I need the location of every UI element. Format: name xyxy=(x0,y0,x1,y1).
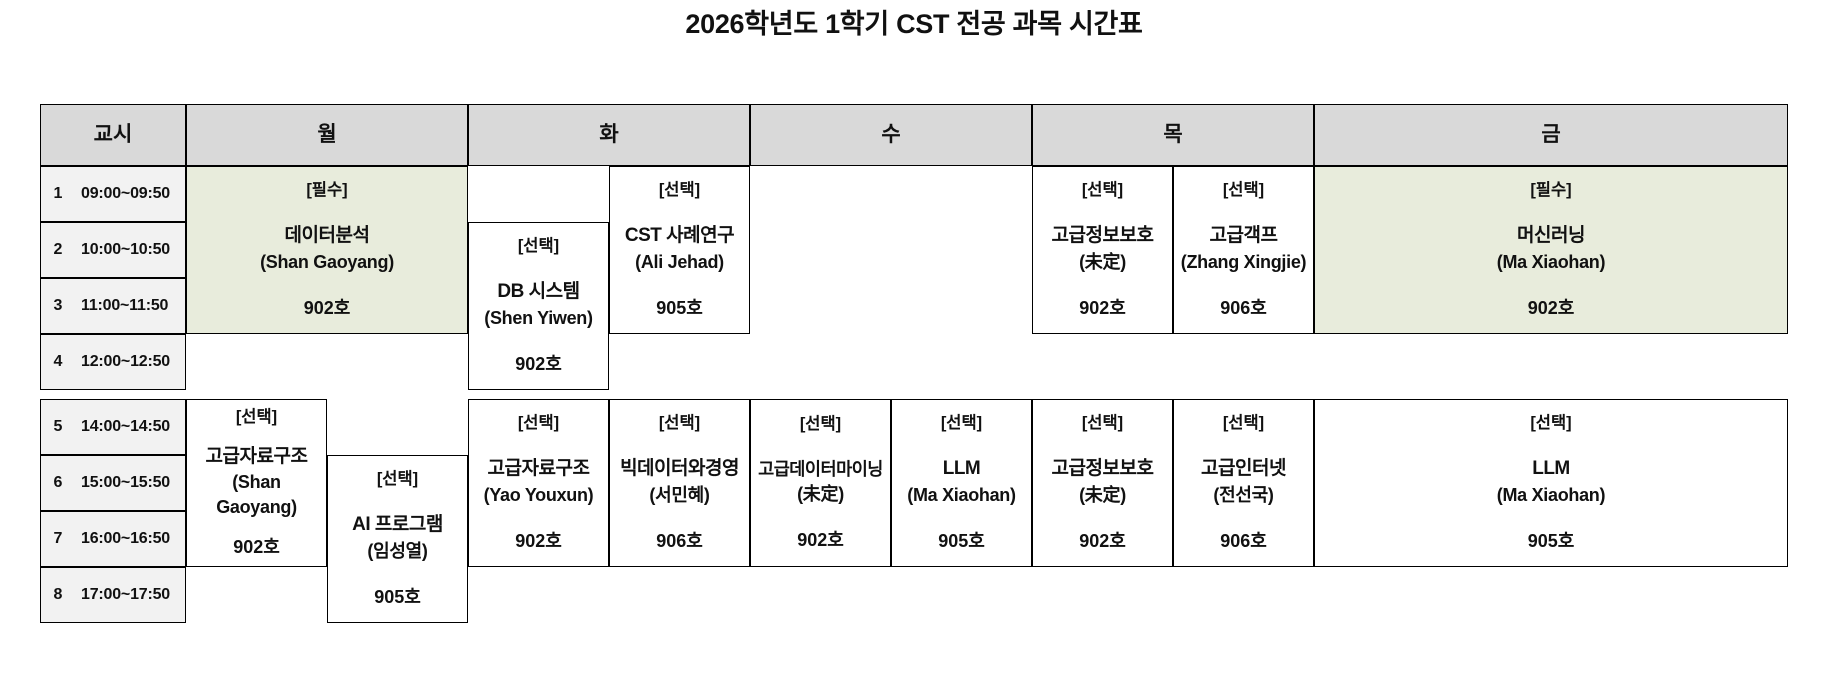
course-room: 906호 xyxy=(656,529,703,554)
page-title: 2026학년도 1학기 CST 전공 과목 시간표 xyxy=(0,0,1828,42)
course-name: 고급정보보호 xyxy=(1052,456,1154,482)
period-number: 7 xyxy=(53,528,63,550)
course-block-thu-adv-infosec-pm[interactable]: [선택] 고급정보보호 (未定) 902호 xyxy=(1032,399,1173,567)
period-time: 09:00~09:50 xyxy=(81,183,170,205)
course-room: 906호 xyxy=(1220,296,1267,321)
period-time: 17:00~17:50 xyxy=(81,584,170,606)
course-name: 고급자료구조 xyxy=(206,444,308,470)
course-name: 고급정보보호 xyxy=(1052,223,1154,249)
course-professor: (Shan Gaoyang) xyxy=(191,470,322,520)
period-row-7: 7 16:00~16:50 xyxy=(40,511,186,567)
course-tag: [선택] xyxy=(236,406,277,429)
period-row-4: 4 12:00~12:50 xyxy=(40,334,186,390)
period-time: 14:00~14:50 xyxy=(81,416,170,438)
period-row-6: 6 15:00~15:50 xyxy=(40,455,186,511)
course-professor: (未定) xyxy=(1079,250,1126,275)
course-name: AI 프로그램 xyxy=(352,512,443,538)
header-period: 교시 xyxy=(40,104,186,166)
period-number: 3 xyxy=(53,295,63,317)
course-name: 머신러닝 xyxy=(1517,223,1585,249)
course-room: 905호 xyxy=(656,296,703,321)
period-number: 8 xyxy=(53,584,63,606)
course-room: 906호 xyxy=(1220,529,1267,554)
header-tuesday-label: 화 xyxy=(599,121,618,150)
course-block-fri-llm[interactable]: [선택] LLM (Ma Xiaohan) 905호 xyxy=(1314,399,1788,567)
course-room: 902호 xyxy=(515,352,562,377)
period-number: 4 xyxy=(53,351,63,373)
period-time: 11:00~11:50 xyxy=(81,295,168,317)
course-tag: [선택] xyxy=(1082,412,1123,435)
course-room: 905호 xyxy=(374,585,421,610)
course-block-wed-adv-data-mining[interactable]: [선택] 고급데이터마이닝 (未定) 902호 xyxy=(750,399,891,567)
course-block-tue-adv-data-structure[interactable]: [선택] 고급자료구조 (Yao Youxun) 902호 xyxy=(468,399,609,567)
course-tag: [선택] xyxy=(941,412,982,435)
course-professor: (Ali Jehad) xyxy=(635,250,724,275)
period-number: 1 xyxy=(53,183,63,205)
course-tag: [필수] xyxy=(306,179,347,202)
header-thursday: 목 xyxy=(1032,104,1314,166)
course-block-mon-data-analysis[interactable]: [필수] 데이터분석 (Shan Gaoyang) 902호 xyxy=(186,166,468,334)
course-room: 902호 xyxy=(233,535,280,560)
header-period-label: 교시 xyxy=(94,121,133,150)
course-name: 고급인터넷 xyxy=(1201,456,1286,482)
course-block-tue-db-system[interactable]: [선택] DB 시스템 (Shen Yiwen) 902호 xyxy=(468,222,609,390)
header-thursday-label: 목 xyxy=(1163,121,1182,150)
course-block-fri-machine-learning[interactable]: [필수] 머신러닝 (Ma Xiaohan) 902호 xyxy=(1314,166,1788,334)
course-tag: [선택] xyxy=(518,235,559,258)
course-professor: (Shen Yiwen) xyxy=(484,306,592,331)
course-block-thu-adv-internet[interactable]: [선택] 고급인터넷 (전선국) 906호 xyxy=(1173,399,1314,567)
course-block-tue-bigdata-management[interactable]: [선택] 빅데이터와경영 (서민혜) 906호 xyxy=(609,399,750,567)
course-professor: (전선국) xyxy=(1213,483,1273,508)
course-name: 데이터분석 xyxy=(285,223,370,249)
course-professor: (Ma Xiaohan) xyxy=(1497,483,1605,508)
course-room: 905호 xyxy=(938,529,985,554)
course-tag: [선택] xyxy=(518,412,559,435)
course-room: 902호 xyxy=(1079,529,1126,554)
course-room: 902호 xyxy=(1528,296,1575,321)
course-professor: (Ma Xiaohan) xyxy=(1497,250,1605,275)
header-friday: 금 xyxy=(1314,104,1788,166)
course-professor: (未定) xyxy=(797,482,844,507)
header-monday: 월 xyxy=(186,104,468,166)
course-name: LLM xyxy=(943,456,981,482)
course-block-mon-adv-data-structure[interactable]: [선택] 고급자료구조 (Shan Gaoyang) 902호 xyxy=(186,399,327,567)
course-name: DB 시스템 xyxy=(497,279,579,305)
course-room: 902호 xyxy=(304,296,351,321)
course-room: 902호 xyxy=(515,529,562,554)
course-block-wed-llm[interactable]: [선택] LLM (Ma Xiaohan) 905호 xyxy=(891,399,1032,567)
course-tag: [선택] xyxy=(800,413,841,436)
period-row-1: 1 09:00~09:50 xyxy=(40,166,186,222)
course-name: 고급데이터마이닝 xyxy=(758,457,883,481)
course-block-mon-ai-programming[interactable]: [선택] AI 프로그램 (임성열) 905호 xyxy=(327,455,468,623)
course-room: 902호 xyxy=(1079,296,1126,321)
period-time: 16:00~16:50 xyxy=(81,528,170,550)
course-professor: (Shan Gaoyang) xyxy=(260,250,394,275)
course-tag: [필수] xyxy=(1530,179,1571,202)
course-professor: (Ma Xiaohan) xyxy=(907,483,1015,508)
course-tag: [선택] xyxy=(659,412,700,435)
course-tag: [선택] xyxy=(1082,179,1123,202)
header-monday-label: 월 xyxy=(317,121,336,150)
course-room: 902호 xyxy=(797,528,844,553)
course-room: 905호 xyxy=(1528,529,1575,554)
period-row-3: 3 11:00~11:50 xyxy=(40,278,186,334)
period-number: 5 xyxy=(53,416,63,438)
course-tag: [선택] xyxy=(1223,412,1264,435)
course-tag: [선택] xyxy=(1530,412,1571,435)
course-name: 고급객프 xyxy=(1210,223,1278,249)
header-tuesday: 화 xyxy=(468,104,750,166)
course-block-tue-cst-case-study[interactable]: [선택] CST 사례연구 (Ali Jehad) 905호 xyxy=(609,166,750,334)
period-time: 15:00~15:50 xyxy=(81,472,170,494)
course-professor: (Zhang Xingjie) xyxy=(1181,250,1307,275)
header-friday-label: 금 xyxy=(1541,121,1560,150)
course-tag: [선택] xyxy=(659,179,700,202)
course-tag: [선택] xyxy=(377,468,418,491)
period-row-5: 5 14:00~14:50 xyxy=(40,399,186,455)
course-professor: (임성열) xyxy=(367,539,427,564)
course-professor: (Yao Youxun) xyxy=(484,483,594,508)
course-block-thu-adv-oop[interactable]: [선택] 고급객프 (Zhang Xingjie) 906호 xyxy=(1173,166,1314,334)
course-name: LLM xyxy=(1532,456,1570,482)
course-professor: (未定) xyxy=(1079,483,1126,508)
period-row-2: 2 10:00~10:50 xyxy=(40,222,186,278)
course-tag: [선택] xyxy=(1223,179,1264,202)
period-number: 2 xyxy=(53,239,63,261)
course-name: CST 사례연구 xyxy=(625,223,734,249)
period-row-8: 8 17:00~17:50 xyxy=(40,567,186,623)
course-name: 빅데이터와경영 xyxy=(620,456,739,482)
header-wednesday: 수 xyxy=(750,104,1032,166)
period-number: 6 xyxy=(53,472,63,494)
period-time: 10:00~10:50 xyxy=(81,239,170,261)
course-block-thu-adv-infosec-am[interactable]: [선택] 고급정보보호 (未定) 902호 xyxy=(1032,166,1173,334)
course-professor: (서민혜) xyxy=(649,483,709,508)
period-time: 12:00~12:50 xyxy=(81,351,170,373)
header-wednesday-label: 수 xyxy=(881,121,900,150)
course-name: 고급자료구조 xyxy=(488,456,590,482)
